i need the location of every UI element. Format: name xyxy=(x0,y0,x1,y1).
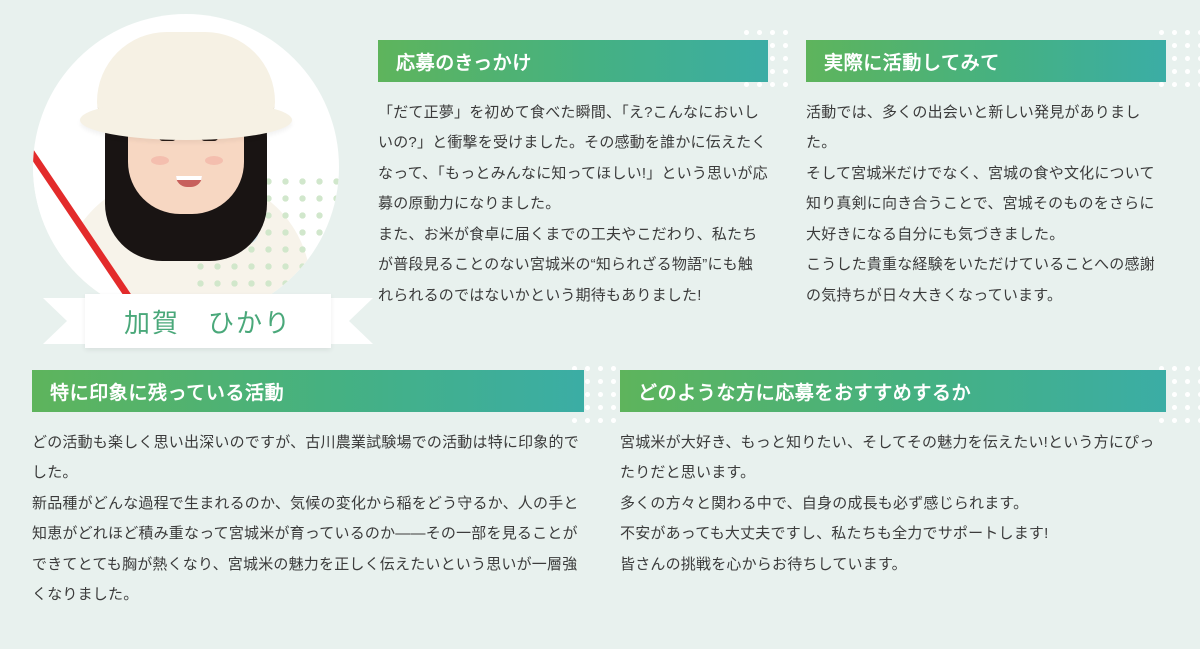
portrait-cheek-left xyxy=(151,156,169,165)
section-paragraph: 新品種がどんな過程で生まれるのか、気候の変化から稲をどう守るか、人の手と知恵がど… xyxy=(32,489,584,611)
section-memorable-activity: 特に印象に残っている活動 どの活動も楽しく思い出深いのですが、古川農業試験場での… xyxy=(32,370,584,611)
profile-name: 加賀 ひかり xyxy=(85,294,331,348)
portrait-cheek-right xyxy=(205,156,223,165)
section-actual-activity: 実際に活動してみて 活動では、多くの出会いと新しい発見がありました。 そして宮城… xyxy=(806,40,1166,311)
profile-block: みやぎライシーイ 加賀 ひかり xyxy=(25,8,365,348)
portrait-hat-brim xyxy=(80,100,292,140)
section-recommendation: どのような方に応募をおすすめするか 宮城米が大好き、もっと知りたい、そしてその魅… xyxy=(620,370,1166,580)
section-paragraph: どの活動も楽しく思い出深いのですが、古川農業試験場での活動は特に印象的でした。 xyxy=(32,428,584,489)
name-ribbon: 加賀 ひかり xyxy=(43,294,373,348)
section-heading: 特に印象に残っている活動 xyxy=(32,370,584,412)
portrait-illustration: みやぎライシーイ xyxy=(33,14,339,320)
section-heading: 応募のきっかけ xyxy=(378,40,768,82)
section-body: 活動では、多くの出会いと新しい発見がありました。 そして宮城米だけでなく、宮城の… xyxy=(806,82,1166,311)
section-apply-reason: 応募のきっかけ 「だて正夢」を初めて食べた瞬間、「え?こんなにおいしいの?」と衝… xyxy=(378,40,768,311)
section-paragraph: 不安があっても大丈夫ですし、私たちも全力でサポートします! xyxy=(620,519,1166,549)
section-heading: 実際に活動してみて xyxy=(806,40,1166,82)
section-paragraph: 活動では、多くの出会いと新しい発見がありました。 xyxy=(806,98,1166,159)
section-paragraph: 多くの方々と関わる中で、自身の成長も必ず感じられます。 xyxy=(620,489,1166,519)
ribbon-body: 加賀 ひかり xyxy=(85,294,331,348)
section-paragraph: そして宮城米だけでなく、宮城の食や文化について知り真剣に向き合うことで、宮城その… xyxy=(806,159,1166,250)
profile-photo: みやぎライシーイ xyxy=(33,14,339,320)
section-paragraph: 「だて正夢」を初めて食べた瞬間、「え?こんなにおいしいの?」と衝撃を受けました。… xyxy=(378,98,768,220)
section-paragraph: 宮城米が大好き、もっと知りたい、そしてその魅力を伝えたい!という方にぴったりだと… xyxy=(620,428,1166,489)
section-heading: どのような方に応募をおすすめするか xyxy=(620,370,1166,412)
profile-interview-page: みやぎライシーイ 加賀 ひかり xyxy=(0,0,1200,649)
section-paragraph: 皆さんの挑戦を心からお待ちしています。 xyxy=(620,550,1166,580)
section-paragraph: また、お米が食卓に届くまでの工夫やこだわり、私たちが普段見ることのない宮城米の“… xyxy=(378,220,768,311)
section-body: 「だて正夢」を初めて食べた瞬間、「え?こんなにおいしいの?」と衝撃を受けました。… xyxy=(378,82,768,311)
section-body: どの活動も楽しく思い出深いのですが、古川農業試験場での活動は特に印象的でした。 … xyxy=(32,412,584,611)
section-body: 宮城米が大好き、もっと知りたい、そしてその魅力を伝えたい!という方にぴったりだと… xyxy=(620,412,1166,580)
section-paragraph: こうした貴重な経験をいただけていることへの感謝の気持ちが日々大きくなっています。 xyxy=(806,250,1166,311)
